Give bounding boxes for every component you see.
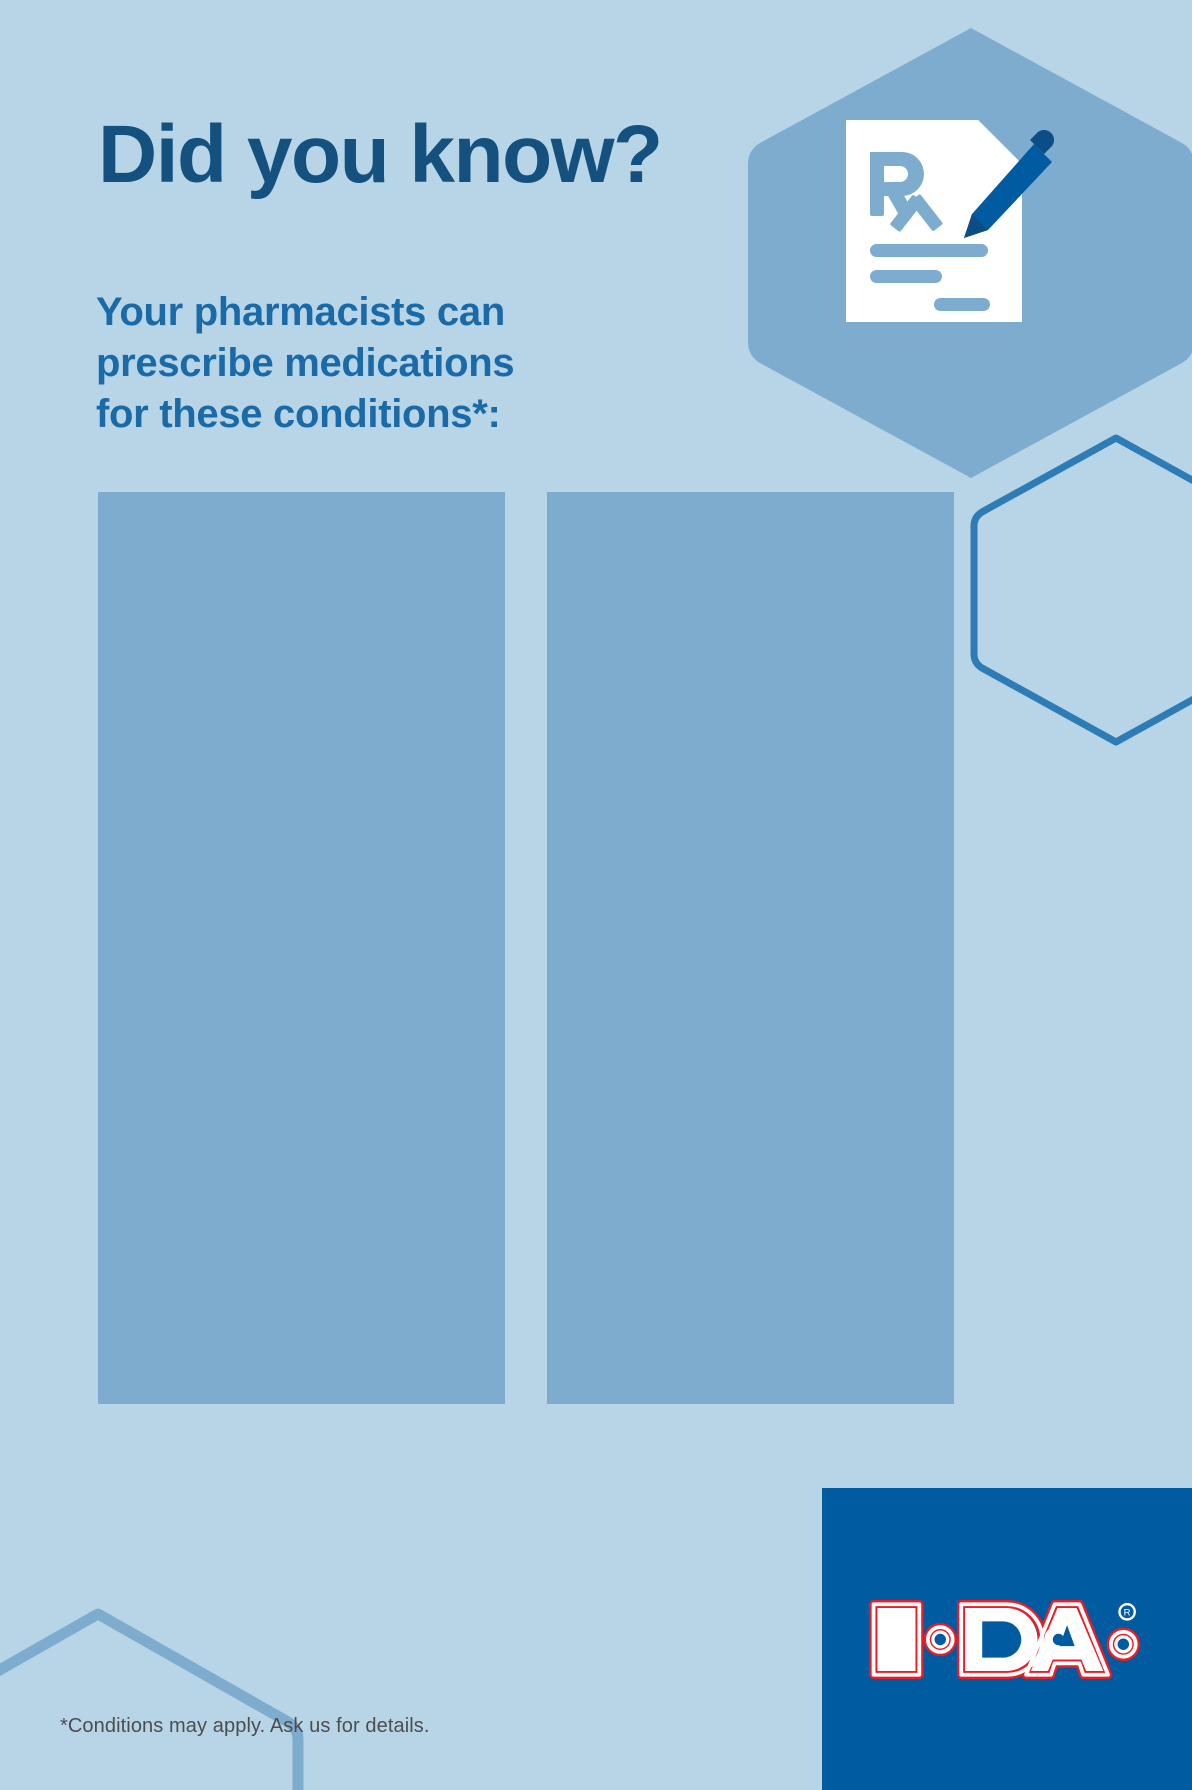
page-subtitle-line-1: Your pharmacists can <box>96 287 514 338</box>
hexagon-outline-icon <box>0 1604 308 1790</box>
ida-logo: R <box>822 1488 1192 1790</box>
conditions-panel-right <box>547 492 954 1404</box>
hexagon-outline-icon <box>966 430 1192 750</box>
page-subtitle-line-3: for these conditions*: <box>96 389 514 440</box>
page-title: Did you know? <box>98 112 662 198</box>
ida-wordmark-icon: R <box>864 1587 1150 1692</box>
conditions-panel-left <box>98 492 505 1404</box>
svg-text:R: R <box>1124 1607 1131 1618</box>
page-subtitle-line-2: prescribe medications <box>96 338 514 389</box>
poster-canvas: Did you know? Your pharmacists can presc… <box>0 0 1192 1790</box>
conditions-panel-row <box>98 492 954 1404</box>
page-subtitle: Your pharmacists can prescribe medicatio… <box>96 287 514 441</box>
registered-mark-icon: R <box>1119 1604 1134 1619</box>
footnote-disclaimer: *Conditions may apply. Ask us for detail… <box>60 1715 430 1738</box>
prescription-document-icon <box>838 118 1056 330</box>
